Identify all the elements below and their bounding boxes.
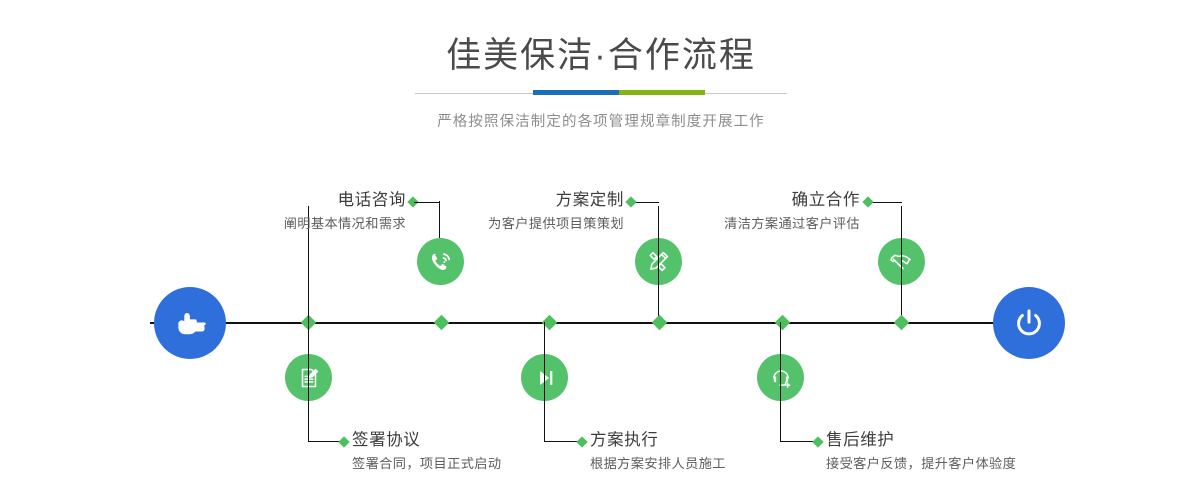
step-subtitle-3: 为客户提供项目策策划 [366, 214, 624, 233]
power-icon [1009, 303, 1049, 343]
step-title-4: 方案执行 [590, 430, 726, 451]
connector-vertical-step-5 [901, 206, 902, 323]
flow-start-node[interactable] [154, 287, 226, 359]
label-connector-step-5 [870, 202, 902, 203]
step-label-3: 方案定制 为客户提供项目策策划 [366, 190, 624, 233]
step-icon-node-1[interactable] [417, 238, 464, 285]
step-subtitle-5: 清洁方案通过客户评估 [602, 214, 860, 233]
step-label-2: 签署协议 签署合同，项目正式启动 [352, 430, 501, 473]
timeline-marker-step-4 [652, 315, 668, 331]
step-label-6: 售后维护 接受客户反馈，提升客户体验度 [826, 430, 1016, 473]
connector-vertical-step-6 [780, 322, 781, 442]
step-label-4: 方案执行 根据方案安排人员施工 [590, 430, 726, 473]
timeline-axis [150, 322, 1052, 324]
label-connector-step-4 [544, 441, 580, 442]
step-subtitle-6: 接受客户反馈，提升客户体验度 [826, 454, 1016, 473]
step-title-5: 确立合作 [602, 190, 860, 211]
connector-vertical-step-2 [308, 322, 309, 442]
label-marker-step-4 [576, 436, 587, 447]
step-label-5: 确立合作 清洁方案通过客户评估 [602, 190, 860, 233]
step-subtitle-2: 签署合同，项目正式启动 [352, 454, 501, 473]
label-connector-step-6 [780, 441, 816, 442]
pointing-hand-icon [170, 303, 210, 343]
flow-end-node[interactable] [993, 287, 1065, 359]
process-flow-diagram: 电话咨询 阐明基本情况和需求 签署协议 签署合同，项目正式启动 [0, 0, 1202, 502]
label-marker-step-5 [862, 196, 873, 207]
phone-call-icon [427, 248, 455, 276]
timeline-marker-step-6 [894, 315, 910, 331]
step-title-6: 售后维护 [826, 430, 1016, 451]
label-connector-step-2 [308, 441, 342, 442]
timeline-marker-step-2 [434, 315, 450, 331]
connector-vertical-step-4 [544, 322, 545, 442]
step-title-2: 签署协议 [352, 430, 501, 451]
step-subtitle-4: 根据方案安排人员施工 [590, 454, 726, 473]
label-marker-step-6 [812, 436, 823, 447]
step-title-3: 方案定制 [366, 190, 624, 211]
label-marker-step-2 [338, 436, 349, 447]
timeline-marker-step-5 [775, 315, 791, 331]
